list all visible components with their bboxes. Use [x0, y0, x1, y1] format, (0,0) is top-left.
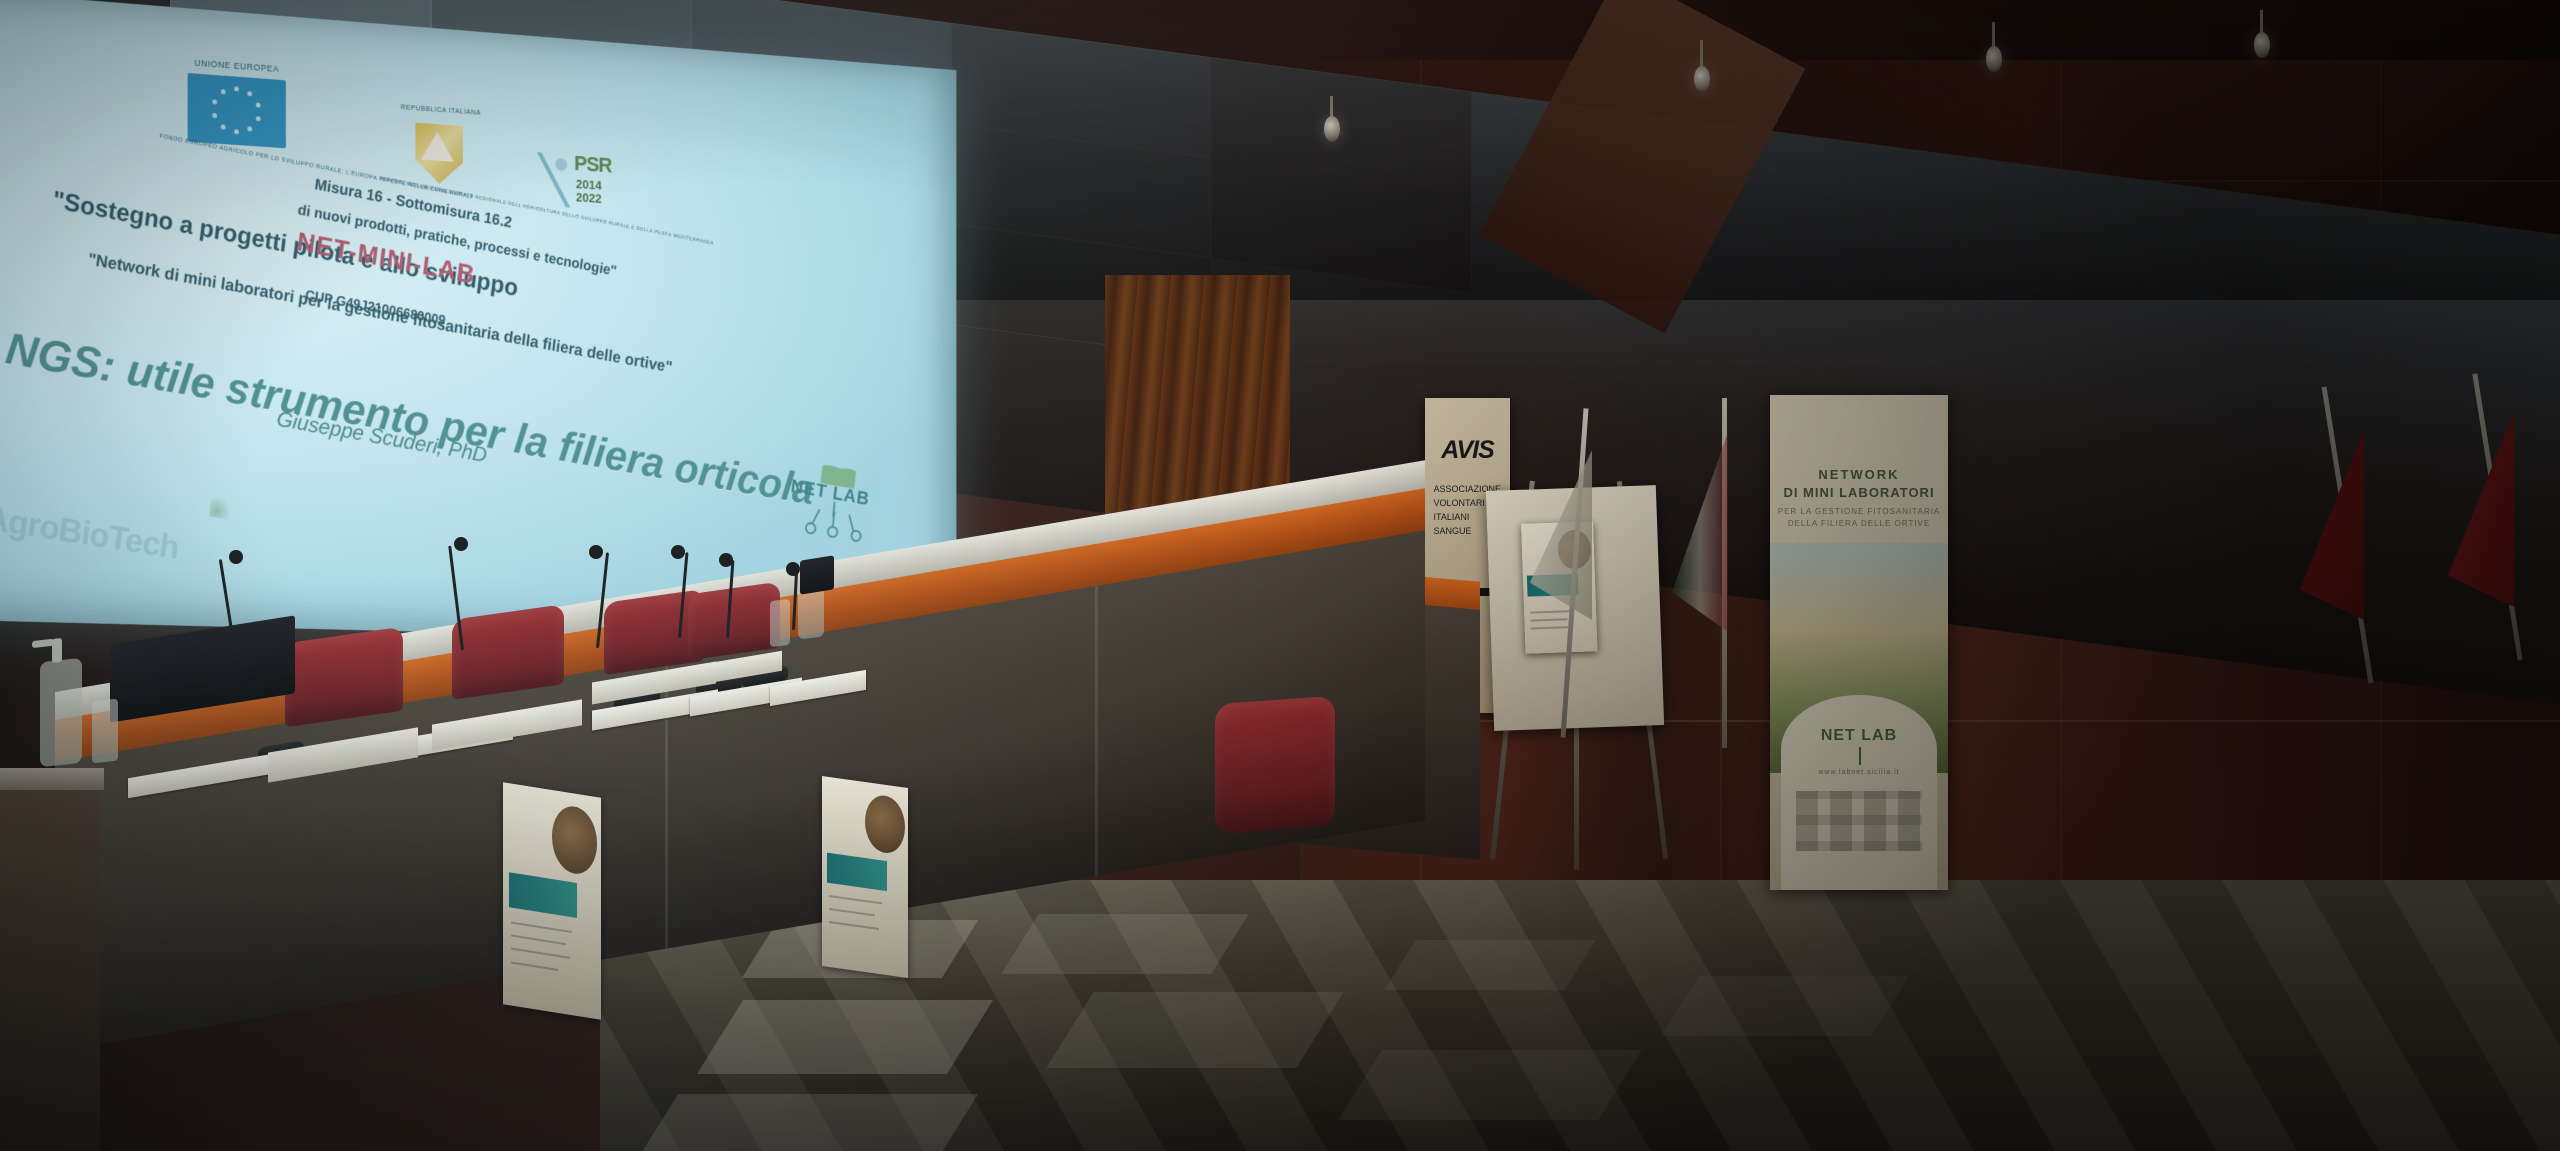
poster-photo [865, 793, 905, 856]
microphone-head [229, 550, 243, 564]
leaf-icon [209, 495, 232, 520]
foreground-counter-top [0, 768, 104, 790]
italy-logo-title: REPUBBLICA ITALIANA [386, 103, 495, 119]
chair [1215, 696, 1335, 834]
eu-logo-title: UNIONE EUROPEA [165, 56, 309, 78]
ceiling-spotlight [1324, 116, 1340, 142]
rollup-logo-badge: NET LAB www.labnet.sicilia.it [1781, 695, 1938, 890]
microphone-head [719, 553, 733, 567]
chair [285, 627, 403, 728]
microphone-head [671, 545, 685, 559]
sicily-crest-icon [415, 123, 462, 186]
rollup-website: www.labnet.sicilia.it [1781, 769, 1938, 776]
ceiling-spotlight [1986, 46, 2002, 72]
psr-leaf-icon [535, 152, 572, 208]
microphone-head [454, 537, 468, 551]
glass-carafe [798, 587, 824, 640]
chair [688, 582, 780, 661]
rollup-title-line-1: NETWORK [1770, 467, 1948, 482]
rollup-partner-logos [1796, 791, 1921, 851]
event-poster-left [503, 782, 601, 1020]
avis-line-2: VOLONTARI [1434, 498, 1485, 509]
psr-logo: PSR 2014 2022 [535, 146, 620, 222]
rollup-title-line-2: DI MINI LABORATORI [1770, 485, 1948, 500]
microphone-head [589, 545, 603, 559]
poster-date-band [827, 853, 887, 892]
psr-years: 2014 2022 [576, 178, 620, 207]
avis-logo-text: AVIS [1425, 436, 1510, 465]
agrobiotech-watermark: AgroBioTech [0, 499, 180, 568]
microphone-head [786, 562, 800, 576]
netlab-rollup-banner: NETWORK DI MINI LABORATORI PER LA GESTIO… [1770, 395, 1948, 890]
rollup-subtitle-line-2: DELLA FILIERA DELLE ORTIVE [1770, 519, 1948, 528]
foreground-counter [0, 782, 100, 1151]
ceiling-spotlight [2254, 32, 2270, 58]
ceiling-spotlight [1694, 66, 1710, 92]
photo-canvas: UNIONE EUROPEA FONDO E [0, 0, 2560, 1151]
chair [452, 604, 564, 700]
small-bottle [92, 699, 118, 764]
poster-photo [552, 803, 597, 877]
avis-line-3: ITALIANI [1434, 512, 1470, 523]
hand-sanitizer-bottle [40, 658, 82, 767]
rollup-logo-text: NET LAB [1781, 727, 1938, 745]
psr-label: PSR [574, 151, 611, 178]
slide-main-title: NGS: utile strumento per la filiera orti… [3, 323, 817, 515]
water-bottle [770, 599, 790, 647]
eu-flag-icon [188, 73, 286, 148]
small-screen-device [800, 555, 834, 594]
avis-line-4: SANGUE [1434, 526, 1472, 537]
poster-date-band [509, 872, 578, 918]
rollup-subtitle-line-1: PER LA GESTIONE FITOSANITARIA [1770, 507, 1948, 516]
funder-logo-row: UNIONE EUROPEA FONDO E [165, 48, 711, 211]
event-poster-right [822, 776, 908, 978]
